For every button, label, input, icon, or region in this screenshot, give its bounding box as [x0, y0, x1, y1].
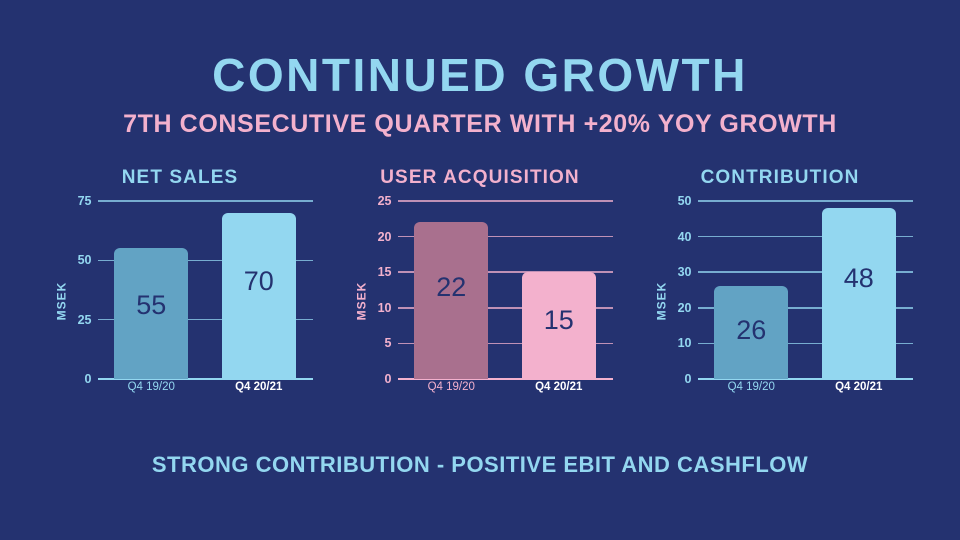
x-axis-labels: Q4 19/20Q4 20/21: [398, 381, 613, 393]
y-tick-label: 50: [78, 253, 92, 267]
chart-net-sales: NET SALES MSEK 0255075 5570 Q4 19/20Q4 2…: [30, 167, 330, 401]
y-axis-ticks: 0510152025: [362, 201, 392, 379]
bar[interactable]: 22: [414, 222, 488, 379]
y-tick-label: 50: [678, 194, 692, 208]
page-subtitle: 7TH CONSECUTIVE QUARTER WITH +20% YOY GR…: [123, 112, 837, 137]
y-tick-label: 0: [85, 372, 92, 386]
chart-title: CONTRIBUTION: [701, 167, 860, 189]
bar-slot: 26: [706, 201, 796, 379]
chart-user-acquisition: USER ACQUISITION MSEK 0510152025 2215 Q4…: [330, 167, 630, 401]
x-axis-category-label: Q4 19/20: [706, 381, 796, 393]
bar-slot: 70: [214, 201, 304, 379]
charts-row: NET SALES MSEK 0255075 5570 Q4 19/20Q4 2…: [0, 167, 960, 401]
x-axis-labels: Q4 19/20Q4 20/21: [698, 381, 913, 393]
y-tick-label: 15: [378, 265, 392, 279]
chart-title: NET SALES: [122, 167, 239, 189]
y-axis-ticks: 0255075: [62, 201, 92, 379]
bar[interactable]: 48: [822, 208, 896, 379]
y-tick-label: 25: [78, 313, 92, 327]
plot-area: MSEK 0255075 5570 Q4 19/20Q4 20/21: [48, 201, 313, 401]
bars-group: 5570: [98, 201, 313, 379]
bar-slot: 15: [514, 201, 604, 379]
bar-value-label: 48: [844, 265, 874, 292]
x-axis-category-label: Q4 20/21: [514, 381, 604, 393]
bar-value-label: 22: [436, 274, 466, 301]
bar[interactable]: 15: [522, 272, 596, 379]
chart-title: USER ACQUISITION: [380, 167, 580, 189]
bar[interactable]: 26: [714, 286, 788, 379]
bar-slot: 55: [106, 201, 196, 379]
bar-value-label: 55: [136, 292, 166, 319]
slide: CONTINUED GROWTH 7TH CONSECUTIVE QUARTER…: [0, 0, 960, 540]
bar[interactable]: 55: [114, 248, 188, 379]
x-axis-category-label: Q4 19/20: [106, 381, 196, 393]
y-tick-label: 20: [378, 230, 392, 244]
y-tick-label: 25: [378, 194, 392, 208]
y-tick-label: 0: [685, 372, 692, 386]
y-tick-label: 75: [78, 194, 92, 208]
chart-contribution: CONTRIBUTION MSEK 01020304050 2648 Q4 19…: [630, 167, 930, 401]
page-title: CONTINUED GROWTH: [212, 52, 748, 98]
y-tick-label: 10: [378, 301, 392, 315]
bars-group: 2215: [398, 201, 613, 379]
y-tick-label: 20: [678, 301, 692, 315]
x-axis-category-label: Q4 20/21: [814, 381, 904, 393]
y-tick-label: 0: [385, 372, 392, 386]
bar-value-label: 26: [736, 317, 766, 344]
bar-value-label: 15: [544, 307, 574, 334]
footer-text: STRONG CONTRIBUTION - POSITIVE EBIT AND …: [0, 452, 960, 478]
y-tick-label: 10: [678, 336, 692, 350]
x-axis-labels: Q4 19/20Q4 20/21: [98, 381, 313, 393]
y-axis-ticks: 01020304050: [662, 201, 692, 379]
bar-value-label: 70: [244, 268, 274, 295]
x-axis-category-label: Q4 20/21: [214, 381, 304, 393]
bar[interactable]: 70: [222, 213, 296, 379]
y-tick-label: 40: [678, 230, 692, 244]
bars-group: 2648: [698, 201, 913, 379]
plot-area: MSEK 0510152025 2215 Q4 19/20Q4 20/21: [348, 201, 613, 401]
bar-slot: 48: [814, 201, 904, 379]
bar-slot: 22: [406, 201, 496, 379]
y-tick-label: 5: [385, 336, 392, 350]
y-tick-label: 30: [678, 265, 692, 279]
plot-area: MSEK 01020304050 2648 Q4 19/20Q4 20/21: [648, 201, 913, 401]
x-axis-category-label: Q4 19/20: [406, 381, 496, 393]
